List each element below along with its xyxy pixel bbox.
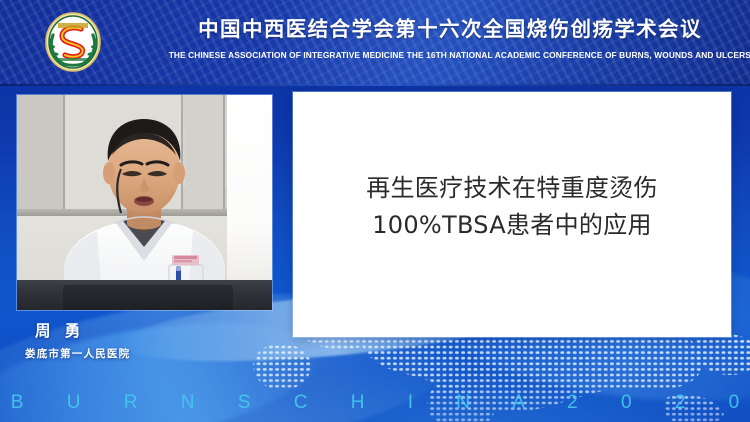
- conference-title-english: THE CHINESE ASSOCIATION OF INTEGRATIVE M…: [169, 50, 732, 61]
- speaker-video-feed[interactable]: [17, 95, 272, 310]
- speaker-name: 周 勇: [18, 322, 268, 342]
- conference-broadcast-screen: 中国中西医结合学会第十六次全国烧伤创疡学术会议 THE CHINESE ASSO…: [0, 0, 750, 422]
- event-wordmark: B U R N S C H I N A 2 0 2 0: [0, 388, 750, 418]
- video-laptop-screen: [63, 285, 233, 310]
- presenter-figure: [17, 95, 272, 310]
- event-wordmark-text: B U R N S C H I N A 2 0 2 0: [0, 391, 750, 415]
- speaker-caption: 周 勇 娄底市第一人民医院: [18, 322, 268, 361]
- speaker-organization: 娄底市第一人民医院: [18, 347, 268, 361]
- slide-title-text: 再生医疗技术在特重度烫伤100%TBSA患者中的应用: [347, 170, 677, 244]
- conference-emblem-icon: [38, 11, 108, 73]
- conference-title-chinese: 中国中西医结合学会第十六次全国烧伤创疡学术会议: [160, 16, 740, 43]
- presentation-slide[interactable]: 再生医疗技术在特重度烫伤100%TBSA患者中的应用: [293, 92, 731, 337]
- header-title-block: 中国中西医结合学会第十六次全国烧伤创疡学术会议 THE CHINESE ASSO…: [160, 16, 740, 61]
- conference-header-banner: 中国中西医结合学会第十六次全国烧伤创疡学术会议 THE CHINESE ASSO…: [0, 0, 750, 86]
- header-bottom-divider: [0, 84, 750, 86]
